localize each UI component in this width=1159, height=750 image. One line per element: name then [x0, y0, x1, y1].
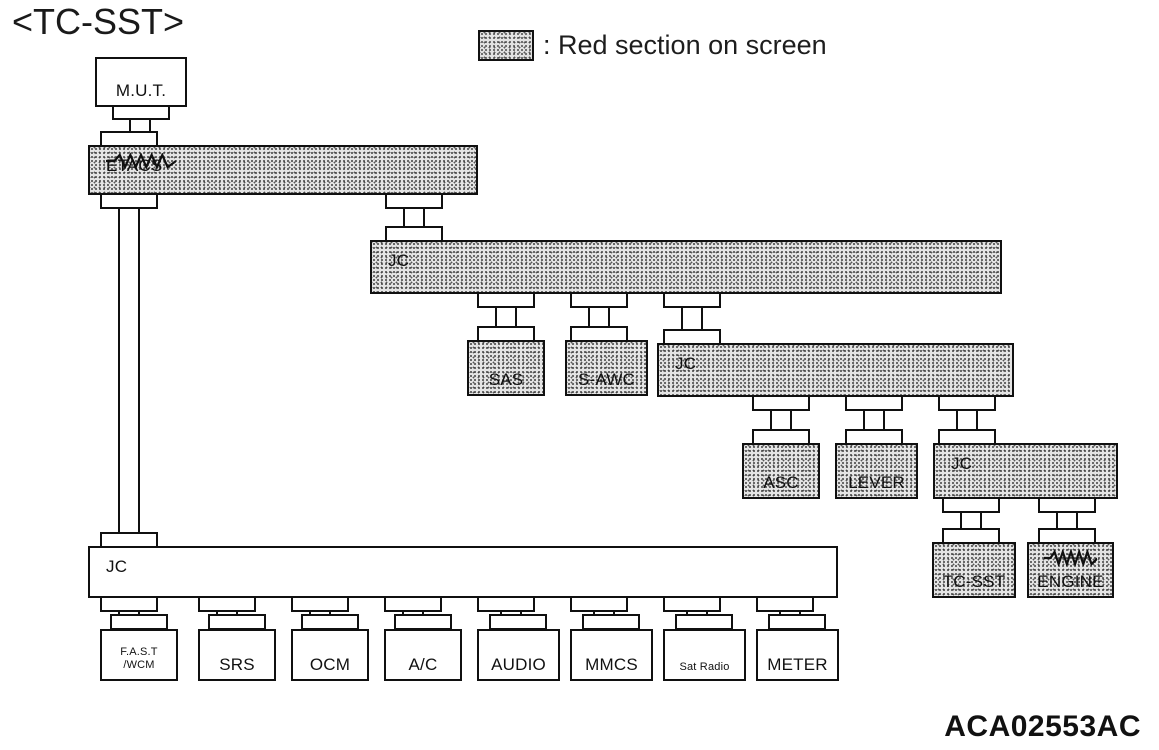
node-meter[interactable]: METER [756, 629, 839, 681]
conn-jcbottom-bot-5 [477, 596, 535, 612]
node-sas[interactable]: SAS [467, 340, 545, 396]
conn-jcbottom-bot-1 [100, 596, 158, 612]
node-jc-bottom[interactable]: JC [88, 546, 838, 598]
conn-jcmid-bottom-sawc [570, 292, 628, 308]
conn-jcright-bot-asc [752, 395, 810, 411]
conn-jcbottom-bot-3 [291, 596, 349, 612]
conn-jcmid-bottom-jcr [663, 292, 721, 308]
conn-etacs-bottom-right [385, 193, 443, 209]
node-jc-right[interactable]: JC [657, 343, 1014, 397]
conn-srs-top [208, 614, 266, 630]
node-label-jc-right: JC [675, 355, 696, 372]
node-ocm[interactable]: OCM [291, 629, 369, 681]
node-label-audio: AUDIO [491, 656, 546, 673]
node-s-awc[interactable]: S-AWC [565, 340, 648, 396]
conn-audio-top [489, 614, 547, 630]
node-label-mmcs: MMCS [585, 656, 638, 673]
node-audio[interactable]: AUDIO [477, 629, 560, 681]
node-label-sas: SAS [489, 371, 524, 388]
node-mut[interactable]: M.U.T. [95, 57, 187, 107]
conn-etacs-bottom-left [100, 193, 158, 209]
node-engine[interactable]: ENGINE [1027, 542, 1114, 598]
diagram-canvas: <TC-SST> : Red section on screen M.U.T.E… [0, 0, 1159, 750]
node-label-ocm: OCM [310, 656, 350, 673]
cable-jcright-jclow [956, 409, 978, 431]
node-label-jc-mid: JC [388, 252, 409, 269]
node-sat-radio[interactable]: Sat Radio [663, 629, 746, 681]
node-asc[interactable]: ASC [742, 443, 820, 499]
conn-jcright-bot-lever [845, 395, 903, 411]
legend-label: : Red section on screen [543, 30, 827, 61]
conn-meter-top [768, 614, 826, 630]
node-label-jc-bottom: JC [106, 558, 127, 575]
cable-etacs-jcmid [403, 207, 425, 228]
cable-jcmid-jcright [681, 306, 703, 331]
conn-mmcs-top [582, 614, 640, 630]
conn-jclow-bot-tcsst [942, 497, 1000, 513]
conn-fastwcm-top [110, 614, 168, 630]
node-etacs[interactable]: ETACS [88, 145, 478, 195]
conn-mut-bottom [112, 105, 170, 120]
resistor-zigzag-icon [1044, 550, 1098, 571]
conn-ocm-top [301, 614, 359, 630]
conn-ac-top [394, 614, 452, 630]
node-jc-mid[interactable]: JC [370, 240, 1002, 294]
node-label-etacs: ETACS [106, 157, 162, 174]
conn-jcbottom-bot-4 [384, 596, 442, 612]
node-label-ac: A/C [409, 656, 438, 673]
conn-jcbottom-bot-2 [198, 596, 256, 612]
node-ac[interactable]: A/C [384, 629, 462, 681]
node-mmcs[interactable]: MMCS [570, 629, 653, 681]
conn-jclow-bot-engine [1038, 497, 1096, 513]
node-tc-sst[interactable]: TC-SST [932, 542, 1016, 598]
figure-code: ACA02553AC [944, 710, 1141, 744]
node-label-tc-sst: TC-SST [943, 573, 1006, 590]
cable-jcright-lever [863, 409, 885, 431]
conn-satradio-top [675, 614, 733, 630]
conn-jcbottom-bot-6 [570, 596, 628, 612]
cable-etacs-jcbottom [118, 207, 140, 534]
node-label-sat-radio: Sat Radio [679, 662, 729, 673]
node-label-engine: ENGINE [1037, 573, 1103, 590]
node-lever[interactable]: LEVER [835, 443, 918, 499]
conn-jcright-bot-jclow [938, 395, 996, 411]
cable-jcmid-sawc [588, 306, 610, 328]
node-jc-low[interactable]: JC [933, 443, 1118, 499]
node-label-jc-low: JC [951, 455, 972, 472]
page-title: <TC-SST> [12, 4, 184, 40]
legend: : Red section on screen [478, 30, 827, 61]
legend-swatch-icon [478, 30, 534, 61]
node-label-srs: SRS [219, 656, 255, 673]
conn-jcmid-bottom-sas [477, 292, 535, 308]
node-label-fast-wcm: F.A.S.T /WCM [120, 646, 157, 674]
node-label-s-awc: S-AWC [578, 371, 635, 388]
node-label-asc: ASC [763, 474, 799, 491]
conn-jcbottom-bot-8 [756, 596, 814, 612]
cable-jcright-asc [770, 409, 792, 431]
node-label-mut: M.U.T. [116, 82, 166, 99]
conn-jcbottom-bot-7 [663, 596, 721, 612]
node-srs[interactable]: SRS [198, 629, 276, 681]
node-label-meter: METER [767, 656, 828, 673]
node-fast-wcm[interactable]: F.A.S.T /WCM [100, 629, 178, 681]
cable-jcmid-sas [495, 306, 517, 328]
node-label-lever: LEVER [848, 474, 905, 491]
